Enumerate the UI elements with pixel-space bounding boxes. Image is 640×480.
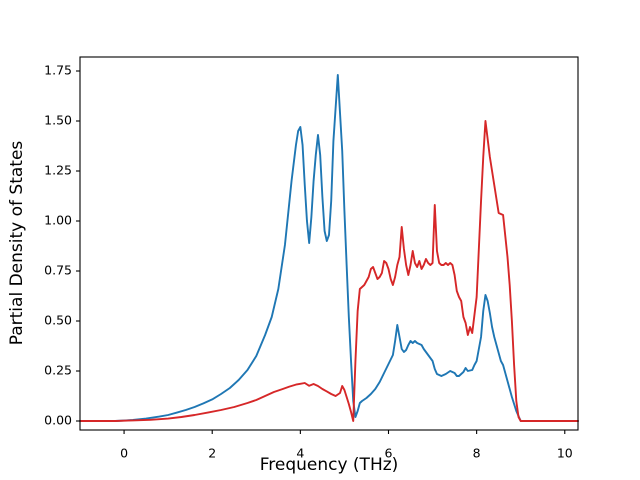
y-axis-label: Partial Density of States [7, 141, 27, 346]
y-tick-label: 1.50 [44, 113, 72, 128]
y-tick-label: 0.00 [44, 413, 72, 428]
y-tick-label: 1.75 [44, 63, 72, 78]
x-tick-label: 2 [208, 446, 216, 461]
figure-canvas: 0246810 0.000.250.500.751.001.251.501.75… [0, 0, 640, 480]
y-tick-label: 1.00 [44, 213, 72, 228]
x-tick-label: 8 [473, 446, 481, 461]
y-tick-label: 0.25 [44, 363, 72, 378]
y-axis-ticks: 0.000.250.500.751.001.251.501.75 [44, 63, 80, 428]
x-tick-label: 10 [557, 446, 573, 461]
plot-area-background [80, 57, 578, 430]
x-axis-label: Frequency (THz) [260, 455, 399, 475]
y-tick-label: 0.50 [44, 313, 72, 328]
pdos-line-chart: 0246810 0.000.250.500.751.001.251.501.75… [0, 0, 640, 480]
y-tick-label: 1.25 [44, 163, 72, 178]
y-tick-label: 0.75 [44, 263, 72, 278]
x-tick-label: 0 [120, 446, 128, 461]
